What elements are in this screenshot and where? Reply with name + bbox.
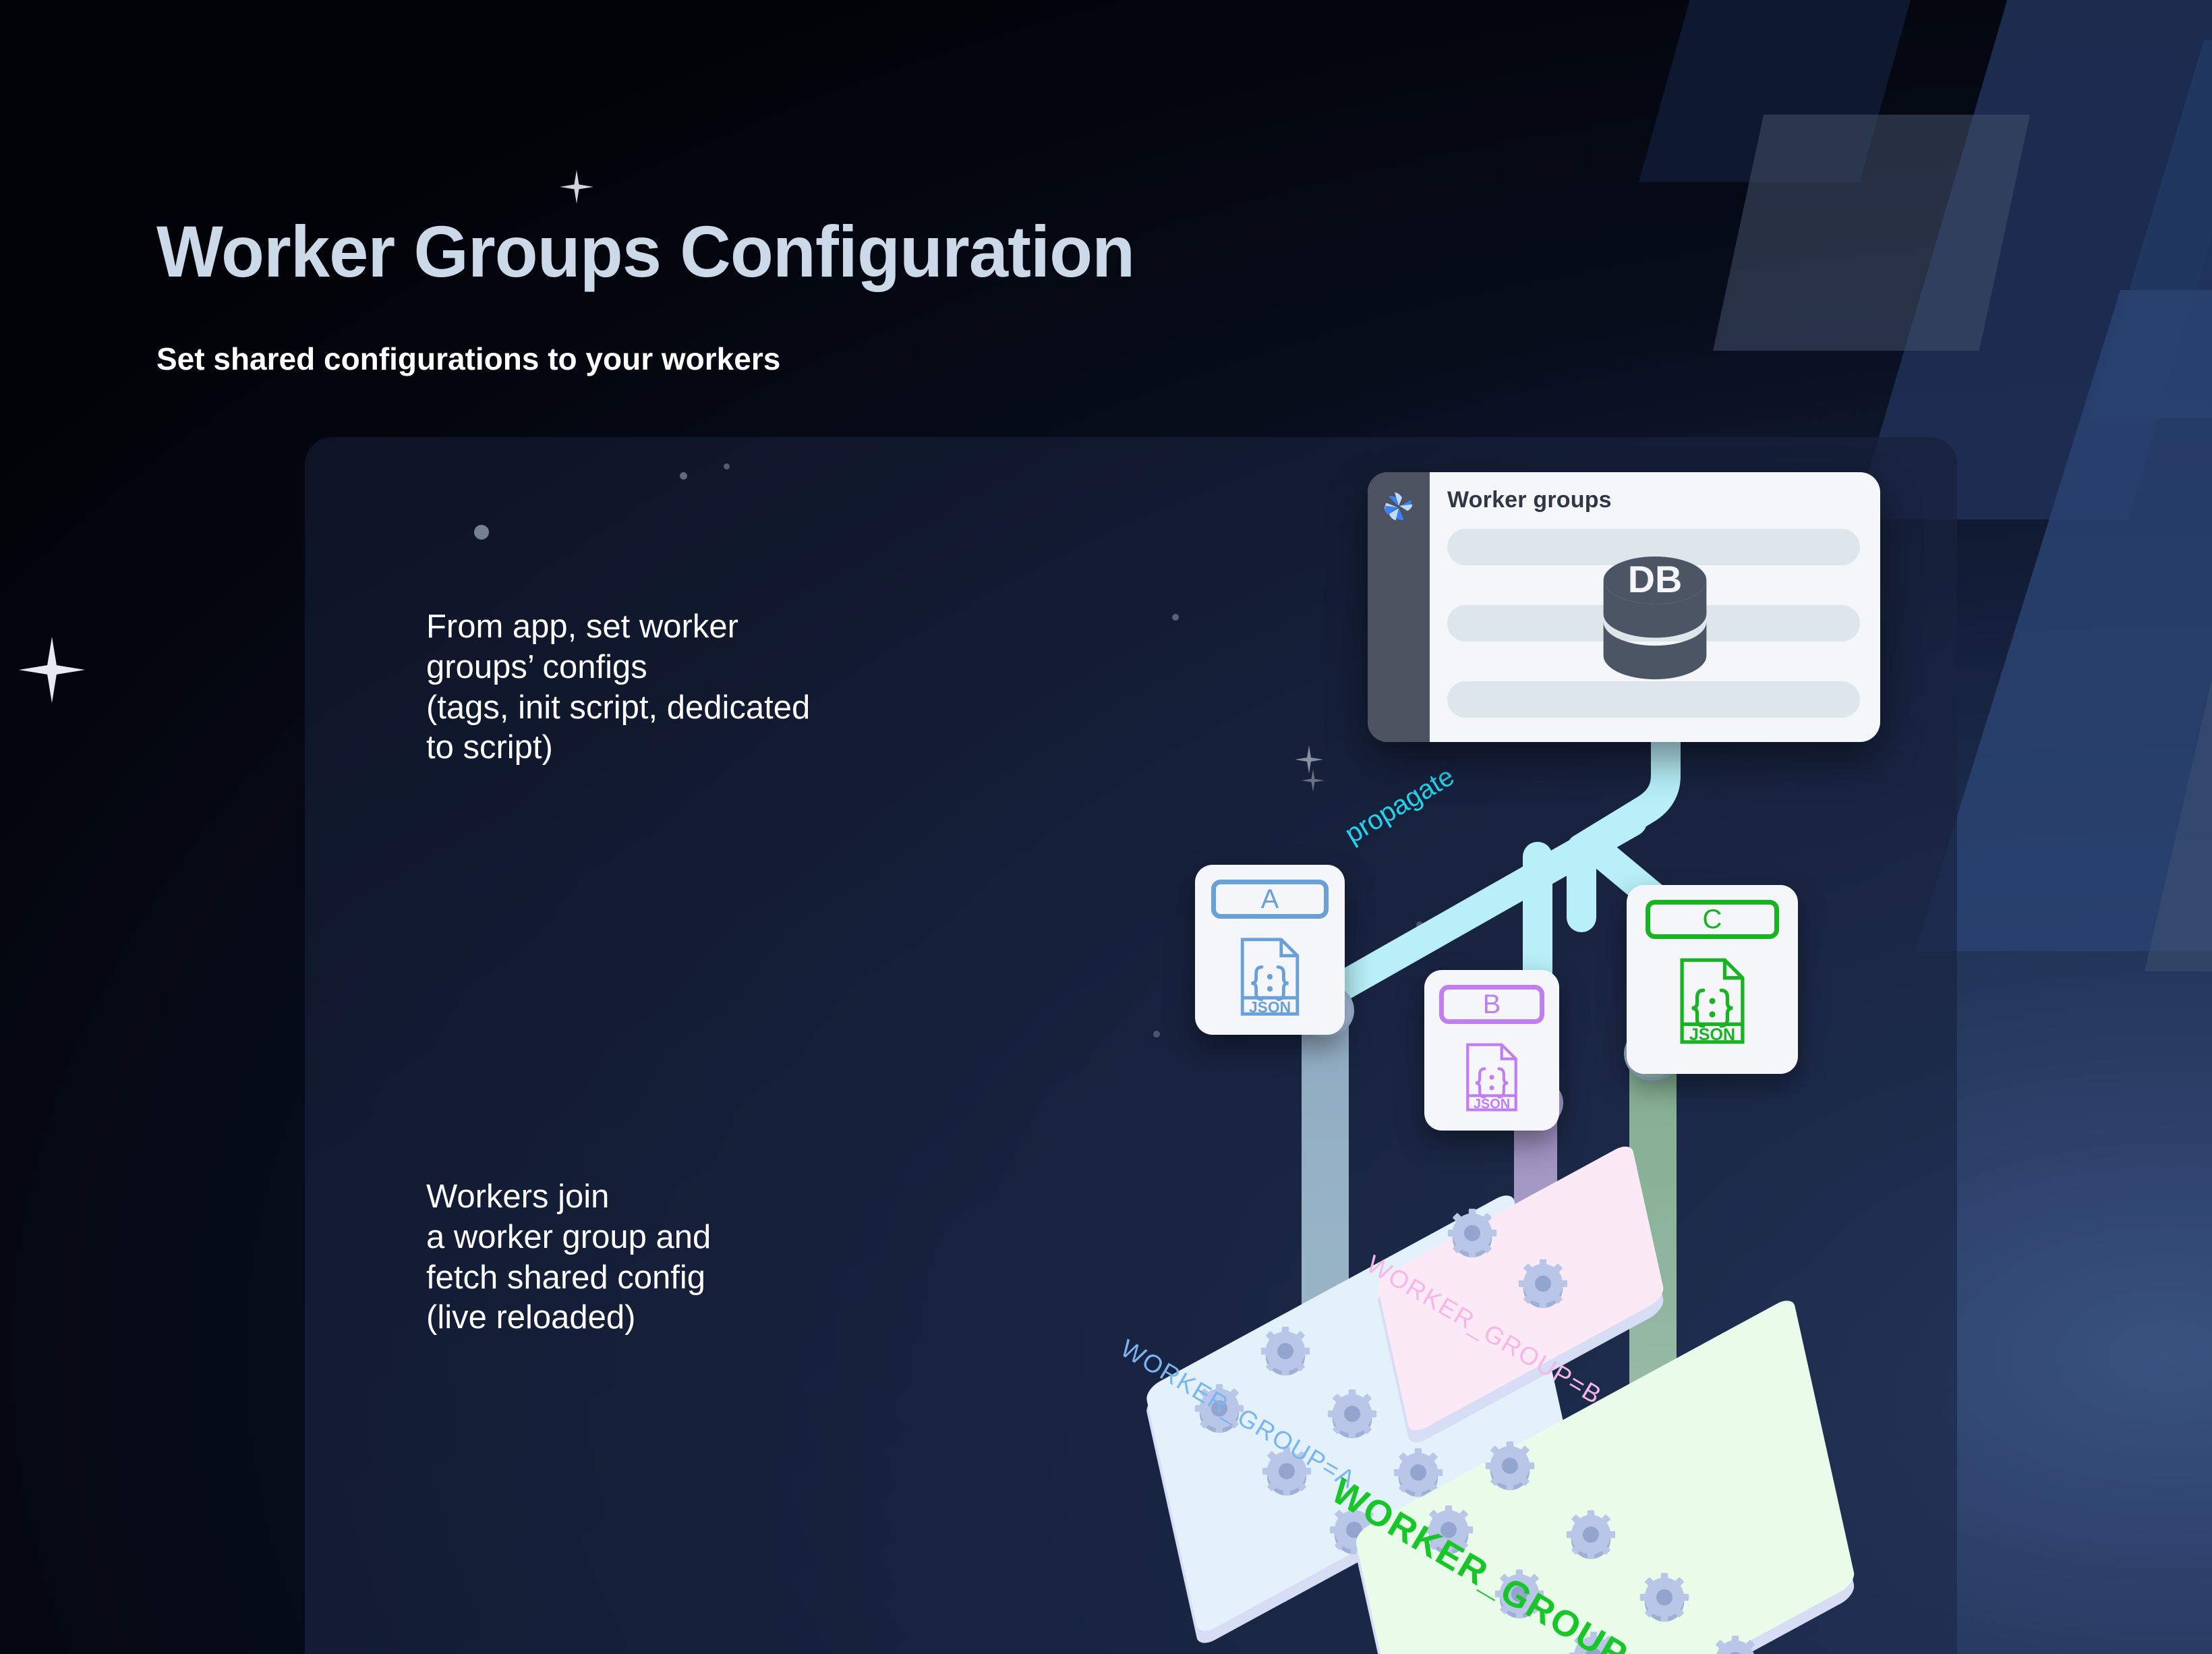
worker-gear	[1514, 1255, 1572, 1313]
architecture-diagram: WORKER_GROUP=A WORKER_GROUP=B	[0, 0, 2212, 1654]
worker-gear	[1635, 1568, 1693, 1626]
worker-gear	[1706, 1631, 1764, 1654]
worker-gear	[1562, 1506, 1620, 1564]
windmill-pinwheel-icon	[1381, 490, 1416, 525]
svg-text:JSON: JSON	[1249, 998, 1291, 1016]
group-badge-c: C	[1646, 900, 1779, 939]
json-file-icon: JSON	[1677, 957, 1748, 1046]
json-file-icon: JSON	[1238, 936, 1302, 1017]
slide-canvas: Worker Groups Configuration Set shared c…	[0, 0, 2212, 1654]
svg-text:JSON: JSON	[1689, 1025, 1735, 1044]
database-icon: DB	[1594, 554, 1716, 681]
worker-group-card-a[interactable]: A JSON	[1195, 865, 1345, 1035]
worker-group-card-b[interactable]: B JSON	[1424, 970, 1559, 1131]
worker-gear	[1256, 1322, 1314, 1380]
propagate-pipe-group	[0, 0, 2212, 1654]
group-badge-b: B	[1439, 985, 1544, 1024]
skeleton-row	[1447, 681, 1860, 718]
worker-groups-app-card[interactable]: Worker groups DB	[1368, 472, 1880, 742]
group-badge-a: A	[1211, 880, 1328, 919]
app-sidebar-rail	[1368, 472, 1430, 742]
worker-gear	[1443, 1204, 1501, 1262]
app-card-title: Worker groups	[1447, 487, 1860, 513]
app-card-body: Worker groups DB	[1430, 472, 1880, 742]
worker-platform-c	[1356, 1322, 1855, 1654]
database-label: DB	[1628, 558, 1683, 600]
worker-gear	[1481, 1437, 1539, 1495]
worker-group-card-c[interactable]: C JSON	[1627, 885, 1798, 1074]
json-file-icon: JSON	[1463, 1042, 1520, 1113]
svg-text:JSON: JSON	[1474, 1097, 1510, 1112]
